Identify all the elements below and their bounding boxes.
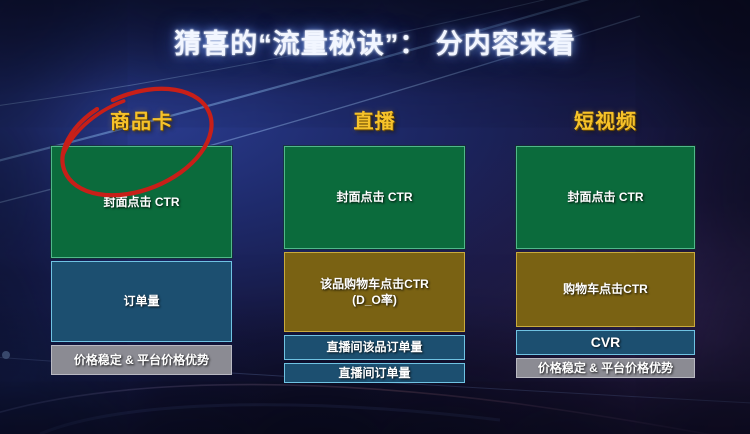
column-short-video: 短视频 封面点击 CTR 购物车点击CTR CVR 价格稳定 & 平台价格优势 bbox=[516, 108, 695, 381]
metric-box-cover-click-ctr[interactable]: 封面点击 CTR bbox=[284, 146, 465, 249]
metric-box-cart-click-ctr[interactable]: 购物车点击CTR bbox=[516, 252, 695, 327]
column-header-short-video: 短视频 bbox=[516, 108, 695, 136]
metric-label: 价格稳定 & 平台价格优势 bbox=[74, 352, 209, 368]
metric-label: 订单量 bbox=[123, 293, 159, 309]
metric-box-cover-click-ctr[interactable]: 封面点击 CTR bbox=[51, 146, 232, 258]
metric-label: 该品购物车点击CTR bbox=[320, 277, 429, 291]
metric-box-cover-click-ctr[interactable]: 封面点击 CTR bbox=[516, 146, 695, 249]
metric-label: CVR bbox=[591, 333, 621, 352]
metric-sublabel: (D_O率) bbox=[320, 292, 429, 308]
metric-label: 封面点击 CTR bbox=[337, 189, 413, 205]
metric-box-product-cart-click-ctr[interactable]: 该品购物车点击CTR (D_O率) bbox=[284, 252, 465, 332]
metric-box-order-volume[interactable]: 订单量 bbox=[51, 261, 232, 342]
metric-label: 购物车点击CTR bbox=[563, 281, 648, 297]
metric-box-room-total-orders[interactable]: 直播间订单量 bbox=[284, 363, 465, 383]
column-header-product-card: 商品卡 bbox=[51, 108, 232, 136]
metric-label: 价格稳定 & 平台价格优势 bbox=[538, 360, 673, 376]
slide-title: 猜喜的“流量秘诀”： 分内容来看 bbox=[0, 22, 750, 61]
column-livestream: 直播 封面点击 CTR 该品购物车点击CTR (D_O率) 直播间该品订单量 直… bbox=[284, 108, 465, 386]
column-product-card: 商品卡 封面点击 CTR 订单量 价格稳定 & 平台价格优势 bbox=[51, 108, 232, 378]
slide-root: 猜喜的“流量秘诀”： 分内容来看 商品卡 封面点击 CTR 订单量 价格稳定 &… bbox=[0, 0, 750, 434]
metric-box-price-advantage[interactable]: 价格稳定 & 平台价格优势 bbox=[51, 345, 232, 375]
metric-box-room-product-orders[interactable]: 直播间该品订单量 bbox=[284, 335, 465, 360]
column-header-livestream: 直播 bbox=[284, 108, 465, 136]
metric-label: 封面点击 CTR bbox=[104, 194, 180, 210]
metric-label: 直播间订单量 bbox=[338, 365, 410, 381]
metric-box-cvr[interactable]: CVR bbox=[516, 330, 695, 355]
metric-box-price-advantage[interactable]: 价格稳定 & 平台价格优势 bbox=[516, 358, 695, 378]
metric-label: 直播间该品订单量 bbox=[326, 339, 422, 355]
metric-label: 封面点击 CTR bbox=[568, 189, 644, 205]
